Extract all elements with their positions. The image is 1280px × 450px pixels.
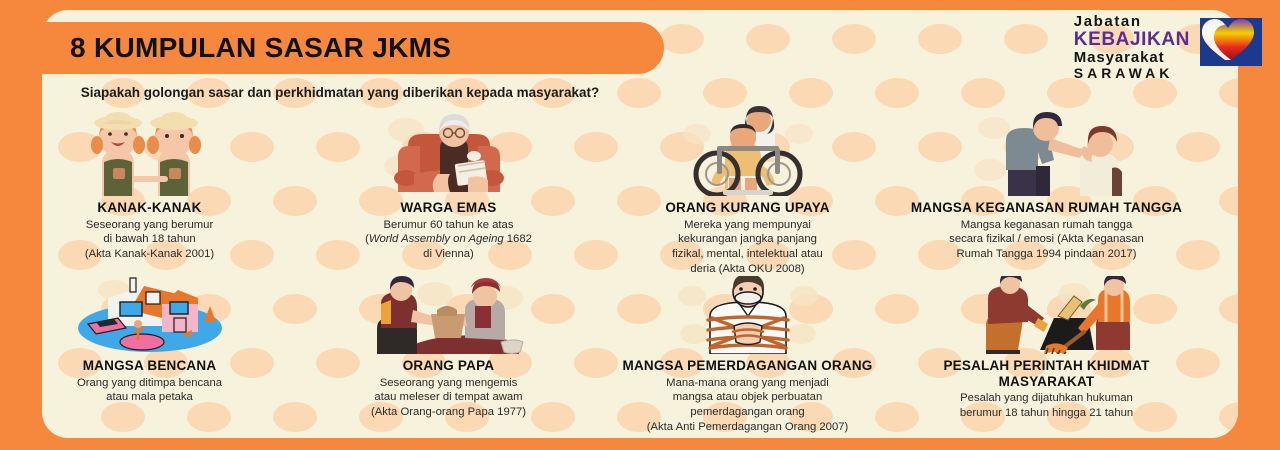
logo-wordmark: Jabatan KEBAJIKAN Masyarakat SARAWAK (1074, 12, 1190, 80)
poster-root: 8 KUMPULAN SASAR JKMS Siapakah golongan … (0, 0, 1280, 450)
card-warga-emas[interactable]: WARGA EMAS Berumur 60 tahun ke atas(Worl… (299, 104, 598, 276)
card-title: KANAK-KANAK (97, 200, 201, 216)
card-title: ORANG KURANG UPAYA (665, 200, 829, 216)
card-description: Orang yang ditimpa bencanaatau mala peta… (77, 376, 222, 405)
card-mangsa-pemerdagangan-orang[interactable]: MANGSA PEMERDAGANGAN ORANG Mana-mana ora… (598, 276, 897, 434)
wheelchair-user-illustration (683, 104, 813, 196)
card-title: ORANG PAPA (403, 358, 495, 374)
domestic-violence-illustration (972, 104, 1122, 196)
elderly-woman-armchair-illustration (384, 104, 514, 196)
card-kanak-kanak[interactable]: KANAK-KANAK Seseorang yang berumurdi baw… (0, 104, 299, 276)
card-title: MANGSA PEMERDAGANGAN ORANG (623, 358, 873, 374)
jkms-logo: Jabatan KEBAJIKAN Masyarakat SARAWAK (1074, 12, 1262, 80)
card-orang-papa[interactable]: ORANG PAPA Seseorang yang mengemisatau m… (299, 276, 598, 434)
beggar-receiving-aid-illustration (369, 276, 529, 354)
card-title: MANGSA BENCANA (83, 358, 217, 374)
card-description: Mereka yang mempunyaikekurangan jangka p… (672, 218, 823, 277)
card-pesalah-perintah-khidmat-masyarakat[interactable]: PESALAH PERINTAH KHIDMAT MASYARAKAT Pesa… (897, 276, 1196, 434)
card-description: Berumur 60 tahun ke atas(World Assembly … (365, 218, 532, 262)
card-mangsa-bencana[interactable]: MANGSA BENCANA Orang yang ditimpa bencan… (0, 276, 299, 434)
card-description: Seseorang yang mengemisatau meleser di t… (371, 376, 526, 420)
card-description: Mangsa keganasan rumah tanggasecara fizi… (949, 218, 1144, 262)
logo-line-sarawak: SARAWAK (1074, 66, 1190, 80)
card-description: Pesalah yang dijatuhkan hukumanberumur 1… (960, 391, 1133, 420)
card-orang-kurang-upaya[interactable]: ORANG KURANG UPAYA Mereka yang mempunyai… (598, 104, 897, 276)
card-mangsa-keganasan-rumah-tangga[interactable]: MANGSA KEGANASAN RUMAH TANGGA Mangsa keg… (897, 104, 1196, 276)
title-banner: 8 KUMPULAN SASAR JKMS (42, 22, 664, 74)
flooded-house-illustration (74, 276, 226, 354)
logo-line-jabatan: Jabatan (1074, 14, 1190, 29)
logo-line-kebajikan: KEBAJIKAN (1074, 30, 1190, 49)
page-title: 8 KUMPULAN SASAR JKMS (70, 32, 451, 64)
subtitle-text: Siapakah golongan sasar dan perkhidmatan… (60, 84, 620, 103)
target-groups-grid: KANAK-KANAK Seseorang yang berumurdi baw… (0, 104, 1196, 428)
card-title: WARGA EMAS (401, 200, 497, 216)
heart-logo-icon (1194, 12, 1262, 72)
card-title: PESALAH PERINTAH KHIDMAT MASYARAKAT (907, 358, 1186, 389)
card-title: MANGSA KEGANASAN RUMAH TANGGA (911, 200, 1182, 216)
card-description: Seseorang yang berumurdi bawah 18 tahun(… (85, 218, 214, 262)
card-description: Mana-mana orang yang menjadimangsa atau … (647, 376, 849, 435)
two-children-illustration (84, 104, 216, 196)
community-service-workers-illustration (962, 276, 1132, 354)
logo-line-masyarakat: Masyarakat (1074, 50, 1190, 65)
bound-trafficking-victim-illustration (678, 276, 818, 354)
